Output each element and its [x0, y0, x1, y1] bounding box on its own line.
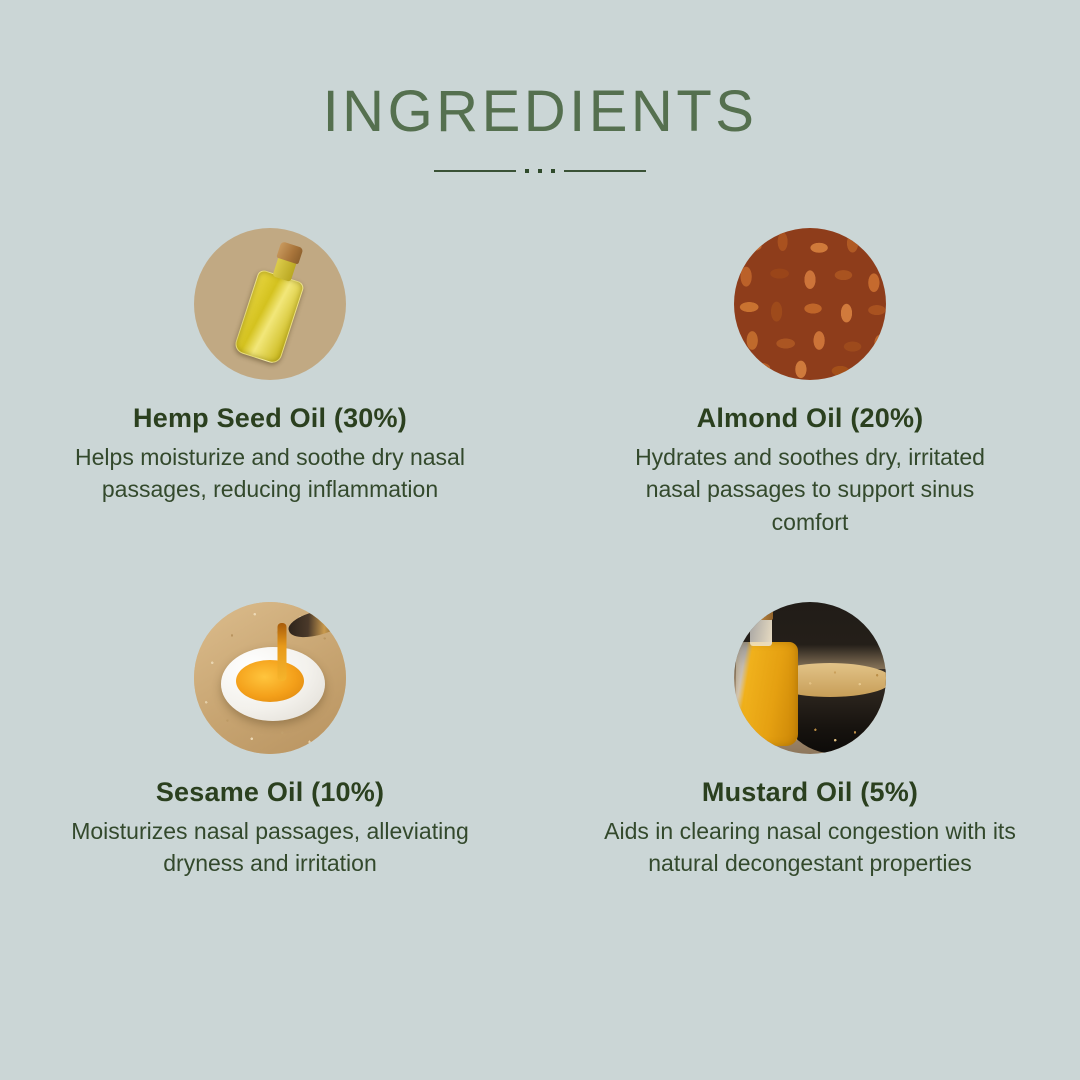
- page-title: INGREDIENTS: [0, 82, 1080, 143]
- ingredient-card-sesame-oil: Sesame Oil (10%) Moisturizes nasal passa…: [0, 600, 540, 972]
- sesame-oil-image: [194, 602, 346, 754]
- title-divider: [0, 165, 1080, 177]
- ingredient-card-hemp-seed-oil: Hemp Seed Oil (30%) Helps moisturize and…: [0, 228, 540, 600]
- ingredients-grid: Hemp Seed Oil (30%) Helps moisturize and…: [0, 228, 1080, 972]
- mustard-oil-bottle-icon: [736, 642, 798, 746]
- ingredient-description: Moisturizes nasal passages, alleviating …: [70, 815, 470, 880]
- ingredient-name: Sesame Oil (10%): [156, 778, 384, 808]
- ingredient-description: Helps moisturize and soothe dry nasal pa…: [70, 441, 470, 506]
- ingredient-description: Aids in clearing nasal congestion with i…: [590, 815, 1030, 880]
- ingredient-name: Mustard Oil (5%): [702, 778, 918, 808]
- sesame-oil-pool-icon: [236, 660, 304, 702]
- ingredient-name: Hemp Seed Oil (30%): [133, 404, 407, 434]
- mustard-oil-image: [734, 602, 886, 754]
- poster-header: INGREDIENTS: [0, 82, 1080, 177]
- divider-dot-3: [551, 169, 555, 173]
- ingredients-poster: INGREDIENTS Hemp Seed Oil (30%) Helps mo…: [0, 0, 1080, 1080]
- divider-rule-right: [564, 170, 646, 172]
- almond-oil-image: [734, 228, 886, 380]
- ingredient-card-mustard-oil: Mustard Oil (5%) Aids in clearing nasal …: [540, 600, 1080, 972]
- divider-rule-left: [434, 170, 516, 172]
- ingredient-description: Hydrates and soothes dry, irritated nasa…: [610, 441, 1010, 539]
- ingredient-card-almond-oil: Almond Oil (20%) Hydrates and soothes dr…: [540, 228, 1080, 600]
- divider-dot-2: [538, 169, 542, 173]
- divider-dot-1: [525, 169, 529, 173]
- hemp-seed-oil-image: [194, 228, 346, 380]
- almonds-texture: [734, 228, 886, 380]
- oil-stream-icon: [278, 623, 287, 681]
- ingredient-name: Almond Oil (20%): [697, 404, 924, 434]
